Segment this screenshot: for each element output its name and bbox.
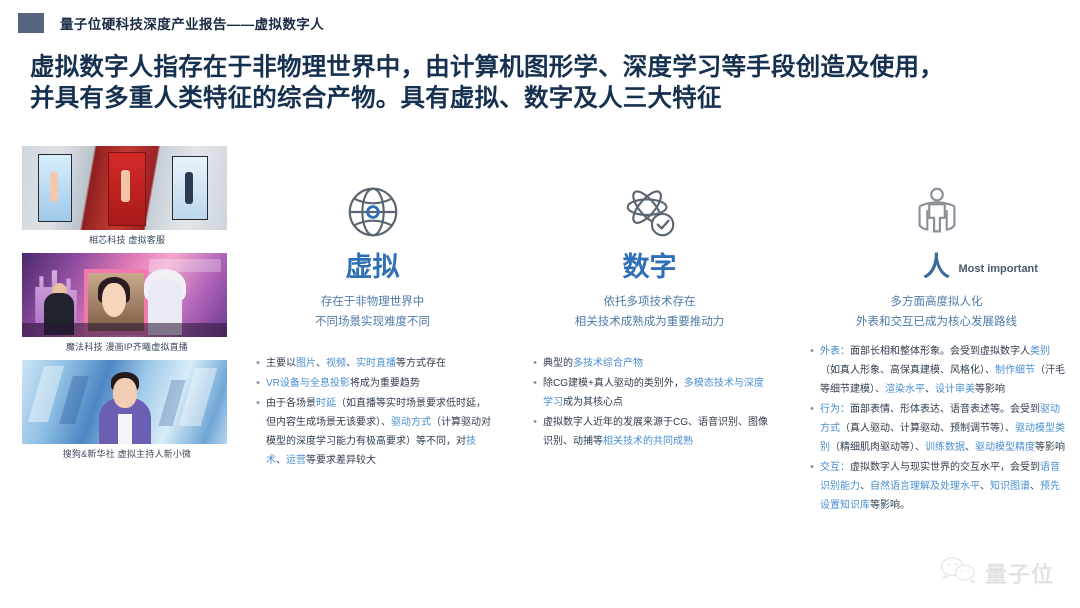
most-important-badge: Most important [959,264,1038,275]
globe-icon [250,176,495,248]
photo-item: 搜狗&新华社 虚拟主持人新小微 [22,360,232,460]
list-item: • 交互：虚拟数字人与现实世界的交互水平，会受到语音识别能力、自然语言理解及处理… [804,458,1069,515]
bullet-text: 主要以图片、视频、实时直播等方式存在 [266,354,495,373]
column-title: 虚拟 [250,254,495,281]
bullet-text: 外表：面部长相和整体形象。会受到虚拟数字人类别（如真人形象、高保真建模、风格化）… [820,342,1069,399]
column-subtitle-line-2: 相关技术成熟成为重要推动力 [527,312,772,332]
header-mark-icon [18,13,44,33]
bullet-dot-icon: • [804,458,820,515]
bullet-dot-icon: • [250,354,266,373]
bullet-text: 行为：面部表情、形体表达、语音表述等。会受到驱动方式（真人驱动、计算驱动、预制调… [820,400,1069,457]
bullet-list: • 主要以图片、视频、实时直播等方式存在 • VR设备与全息投影将成为重要趋势 … [250,354,495,470]
column-subtitle-line-2: 外表和交互已成为核心发展路线 [804,312,1069,332]
list-item: • VR设备与全息投影将成为重要趋势 [250,374,495,393]
feature-column-digital: 数字 依托多项技术存在 相关技术成熟成为重要推动力 • 典型的多技术综合产物 •… [527,176,772,516]
column-title: 人 Most important [804,254,1069,281]
column-subtitle: 多方面高度拟人化 外表和交互已成为核心发展路线 [804,292,1069,332]
bullet-text: 虚拟数字人近年的发展来源于CG、语音识别、图像识别、动捕等相关技术的共同成熟 [543,413,772,451]
people-group-icon [804,176,1069,248]
bullet-dot-icon: • [250,394,266,470]
bullet-dot-icon: • [804,400,820,457]
list-item: • 行为：面部表情、形体表达、语音表述等。会受到驱动方式（真人驱动、计算驱动、预… [804,400,1069,457]
headline-line-1: 虚拟数字人指存在于非物理世界中，由计算机图形学、深度学习等手段创造及使用， [30,52,1060,83]
photo-caption: 搜狗&新华社 虚拟主持人新小微 [22,447,232,460]
column-subtitle: 存在于非物理世界中 不同场景实现难度不同 [250,292,495,332]
watermark-text: 量子位 [985,557,1054,589]
list-item: • 除CG建模+真人驱动的类别外，多模态技术与深度学习成为其核心点 [527,374,772,412]
bullet-text: VR设备与全息投影将成为重要趋势 [266,374,495,393]
photo-caption: 相芯科技 虚拟客服 [22,233,232,246]
list-item: • 外表：面部长相和整体形象。会受到虚拟数字人类别（如真人形象、高保真建模、风格… [804,342,1069,399]
headline-line-2: 并具有多重人类特征的综合产物。具有虚拟、数字及人三大特征 [30,83,1060,114]
bullet-dot-icon: • [250,374,266,393]
photo-gallery: 相芯科技 虚拟客服 魔法科技 漫画IP齐曦虚拟直播 搜狗&新华社 虚拟主持人新小… [22,146,232,467]
bullet-text: 由于各场景时延（如直播等实时场景要求低时延，但内容生成场景无该要求）、驱动方式（… [266,394,495,470]
bullet-list: • 外表：面部长相和整体形象。会受到虚拟数字人类别（如真人形象、高保真建模、风格… [804,342,1069,515]
list-item: • 主要以图片、视频、实时直播等方式存在 [250,354,495,373]
atom-check-icon [527,176,772,248]
photo-virtual-news-anchor [22,360,227,444]
photo-anime-livestream [22,253,227,337]
column-subtitle-line-1: 存在于非物理世界中 [250,292,495,312]
bullet-list: • 典型的多技术综合产物 • 除CG建模+真人驱动的类别外，多模态技术与深度学习… [527,354,772,451]
photo-item: 魔法科技 漫画IP齐曦虚拟直播 [22,253,232,353]
column-title: 数字 [527,254,772,281]
column-subtitle-line-2: 不同场景实现难度不同 [250,312,495,332]
wechat-icon [939,555,985,590]
column-subtitle: 依托多项技术存在 相关技术成熟成为重要推动力 [527,292,772,332]
photo-virtual-customer-service [22,146,227,230]
column-title-text: 人 [923,252,950,282]
bullet-text: 典型的多技术综合产物 [543,354,772,373]
column-subtitle-line-1: 依托多项技术存在 [527,292,772,312]
column-subtitle-line-1: 多方面高度拟人化 [804,292,1069,312]
feature-column-human: 人 Most important 多方面高度拟人化 外表和交互已成为核心发展路线… [804,176,1069,516]
list-item: • 典型的多技术综合产物 [527,354,772,373]
page-title: 虚拟数字人指存在于非物理世界中，由计算机图形学、深度学习等手段创造及使用， 并具… [30,52,1060,114]
photo-caption: 魔法科技 漫画IP齐曦虚拟直播 [22,340,232,353]
page-header: 量子位硬科技深度产业报告——虚拟数字人 [0,0,1080,46]
bullet-text: 除CG建模+真人驱动的类别外，多模态技术与深度学习成为其核心点 [543,374,772,412]
bullet-text: 交互：虚拟数字人与现实世界的交互水平，会受到语音识别能力、自然语言理解及处理水平… [820,458,1069,515]
list-item: • 由于各场景时延（如直播等实时场景要求低时延，但内容生成场景无该要求）、驱动方… [250,394,495,470]
feature-column-virtual: 虚拟 存在于非物理世界中 不同场景实现难度不同 • 主要以图片、视频、实时直播等… [250,176,495,516]
feature-columns: 虚拟 存在于非物理世界中 不同场景实现难度不同 • 主要以图片、视频、实时直播等… [250,176,1070,516]
bullet-dot-icon: • [527,354,543,373]
photo-item: 相芯科技 虚拟客服 [22,146,232,246]
bullet-dot-icon: • [804,342,820,399]
bullet-dot-icon: • [527,413,543,451]
header-title: 量子位硬科技深度产业报告——虚拟数字人 [60,13,324,33]
list-item: • 虚拟数字人近年的发展来源于CG、语音识别、图像识别、动捕等相关技术的共同成熟 [527,413,772,451]
bullet-dot-icon: • [527,374,543,412]
watermark: 量子位 [939,555,1054,590]
